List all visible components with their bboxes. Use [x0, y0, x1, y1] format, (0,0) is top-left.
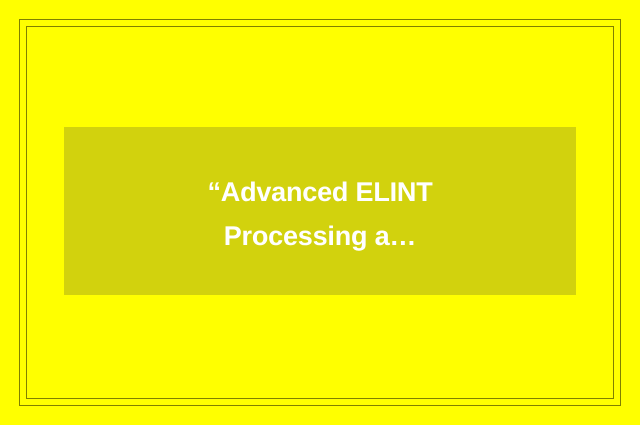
- title-band: “Advanced ELINT Processing a…: [64, 127, 576, 295]
- title-line-1: “Advanced ELINT: [207, 170, 432, 214]
- slide-canvas: “Advanced ELINT Processing a…: [0, 0, 640, 425]
- title-line-2: Processing a…: [224, 214, 416, 258]
